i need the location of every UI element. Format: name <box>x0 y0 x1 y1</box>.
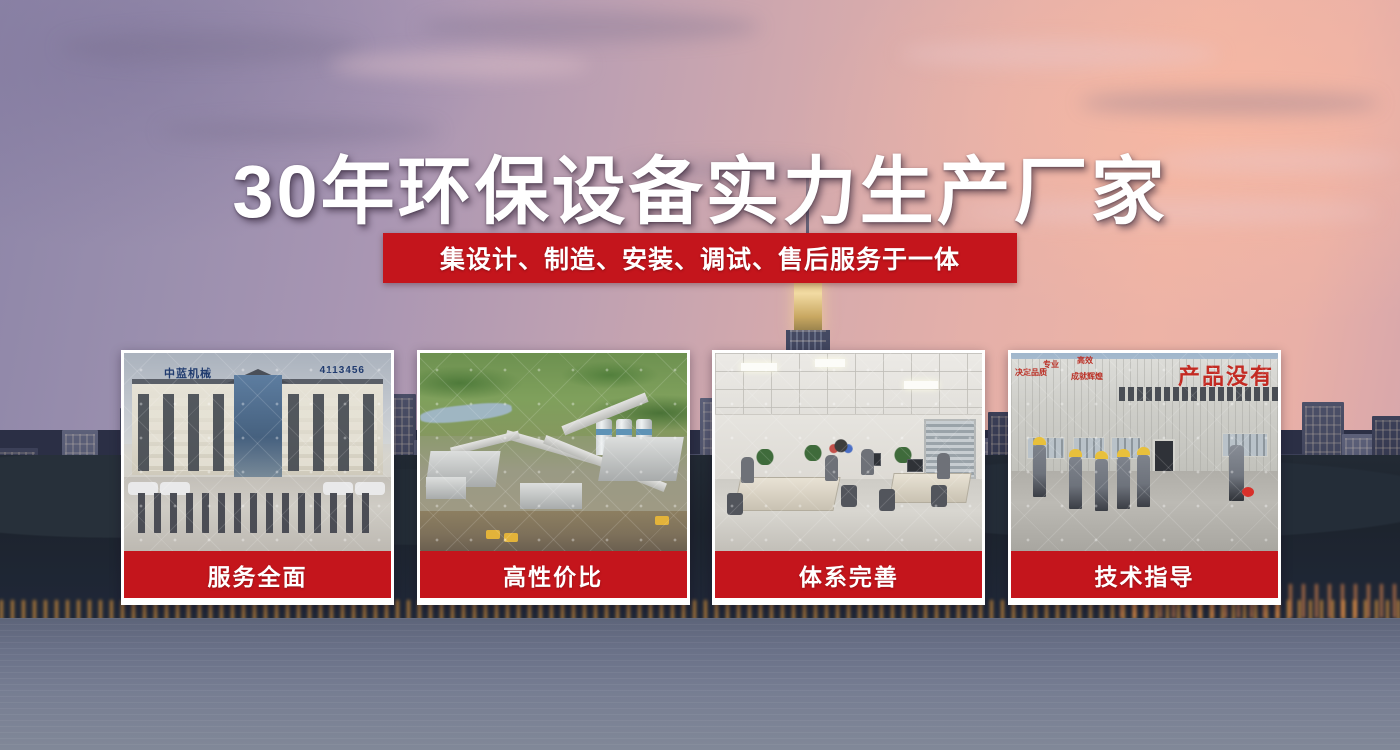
card-caption: 体系完善 <box>715 551 982 598</box>
river-water <box>0 618 1400 750</box>
card-caption-label: 技术指导 <box>1094 558 1194 592</box>
card-caption: 高性价比 <box>420 551 687 598</box>
feature-card[interactable]: 产品没有 决定品质 专业 高效 成就辉煌 <box>1008 350 1281 605</box>
photo-banner-small-text: 高效 <box>1077 355 1093 366</box>
subtitle-bar: 集设计、制造、安装、调试、售后服务于一体 <box>383 233 1017 283</box>
page-title: 30年环保设备实力生产厂家 <box>0 132 1400 239</box>
card-caption-label: 服务全面 <box>208 558 308 592</box>
card-caption-label: 高性价比 <box>503 558 603 592</box>
feature-card[interactable]: 中蓝机械 4113456 服务全面 <box>121 350 394 605</box>
photo-banner-small-text: 成就辉煌 <box>1071 371 1103 382</box>
feature-card[interactable]: 高性价比 <box>417 350 690 605</box>
card-caption: 服务全面 <box>124 551 391 598</box>
card-photo-office-interior <box>715 353 982 551</box>
card-photo-industrial-plant <box>420 353 687 551</box>
photo-sign-text: 中蓝机械 <box>164 365 212 381</box>
cloud <box>330 52 590 78</box>
feature-card[interactable]: 体系完善 <box>712 350 985 605</box>
cloud <box>60 30 360 64</box>
photo-phone-text: 4113456 <box>320 365 365 376</box>
cloud <box>1080 90 1380 116</box>
feature-card-list: 中蓝机械 4113456 服务全面 <box>121 350 1281 605</box>
subtitle-text: 集设计、制造、安装、调试、售后服务于一体 <box>440 240 960 276</box>
card-photo-worker-briefing: 产品没有 决定品质 专业 高效 成就辉煌 <box>1011 353 1278 551</box>
card-photo-office-building: 中蓝机械 4113456 <box>124 353 391 551</box>
cloud <box>900 40 1220 68</box>
cloud <box>420 12 760 42</box>
card-caption: 技术指导 <box>1011 551 1278 598</box>
photo-banner-small-text: 专业 <box>1043 359 1059 370</box>
promo-banner: 30年环保设备实力生产厂家 集设计、制造、安装、调试、售后服务于一体 中蓝机械 … <box>0 0 1400 750</box>
card-caption-label: 体系完善 <box>799 558 899 592</box>
